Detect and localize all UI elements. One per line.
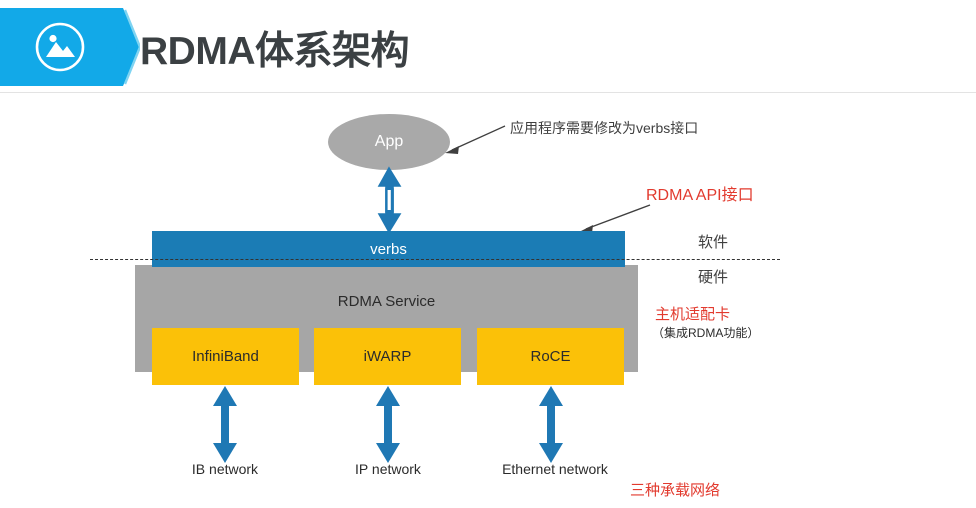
header-divider [0, 92, 976, 93]
transport-label: iWARP [364, 348, 412, 365]
page-title: RDMA体系架构 [140, 20, 409, 76]
leader-line-api-note [579, 205, 650, 233]
arrow-iwarp-to-ip-network [376, 386, 400, 463]
transport-label: InfiniBand [192, 348, 259, 365]
transport-label: RoCE [530, 348, 570, 365]
annotation-networks-note: 三种承载网络 [630, 479, 720, 500]
arrow-roce-to-ethernet-network [539, 386, 563, 463]
transport-box-infiniband: InfiniBand [152, 328, 299, 385]
transport-box-iwarp: iWARP [314, 328, 461, 385]
banner-chevron-icon [100, 8, 140, 86]
transport-box-roce: RoCE [477, 328, 624, 385]
rdma-service-label: RDMA Service [135, 293, 638, 310]
layer-label-software: 软件 [698, 231, 728, 252]
app-node-label: App [375, 133, 403, 151]
verbs-layer: verbs [152, 231, 625, 267]
arrow-app-to-verbs-shaft-gap [388, 190, 391, 210]
network-label-ethernet: Ethernet network [485, 461, 625, 478]
verbs-layer-label: verbs [370, 241, 407, 258]
app-node: App [328, 114, 450, 170]
leader-line-app-note [445, 126, 505, 154]
network-label-ip: IP network [318, 461, 458, 478]
annotation-hca-note: 主机适配卡 [655, 303, 730, 324]
network-label-ib: IB network [155, 461, 295, 478]
arrow-app-to-verbs [379, 168, 400, 232]
image-photo-icon [34, 21, 86, 73]
layer-label-hardware: 硬件 [698, 266, 728, 287]
annotation-api-note: RDMA API接口 [646, 181, 754, 205]
annotation-hca-subnote: （集成RDMA功能） [652, 324, 759, 341]
arrow-infiniband-to-ib-network [213, 386, 237, 463]
software-hardware-divider [90, 259, 780, 260]
annotation-app-note: 应用程序需要修改为verbs接口 [510, 118, 698, 138]
